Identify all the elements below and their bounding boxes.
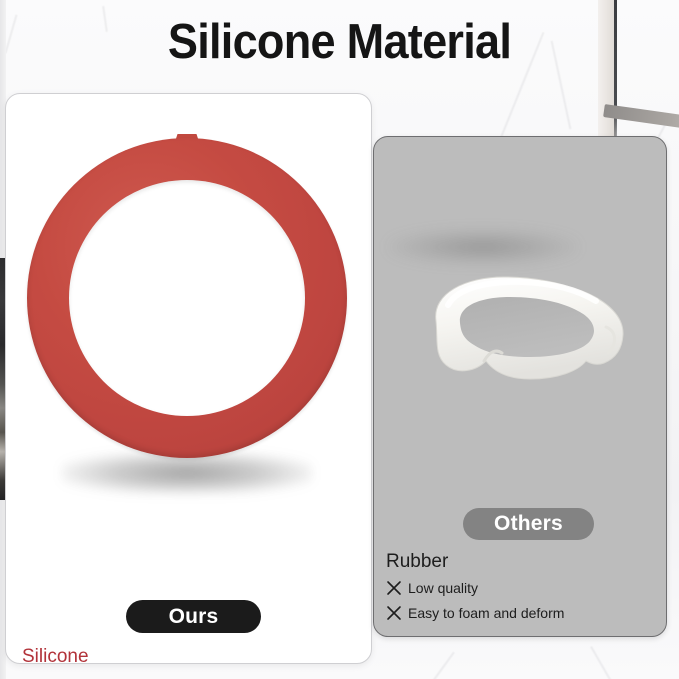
others-material-title: Rubber	[386, 550, 656, 574]
ours-material-title: Silicone	[22, 645, 352, 664]
others-feature-row: Easy to foam and deform	[386, 604, 656, 625]
others-feature-text: Easy to foam and deform	[408, 604, 564, 622]
others-feature-text: Low quality	[408, 579, 478, 597]
badge-ours: Ours	[126, 600, 261, 633]
marble-vein	[590, 646, 611, 679]
page-title: Silicone Material	[27, 14, 652, 70]
x-icon	[386, 605, 408, 625]
silicone-ring-image	[6, 94, 372, 514]
ring-drop-shadow	[62, 452, 312, 494]
ours-card: Ours Silicone Better resistant to chlori…	[5, 93, 372, 664]
rubber-gasket-image	[374, 137, 667, 537]
comparison-infographic: Silicone Material Ours Silicone Better r…	[0, 0, 679, 679]
marble-vein	[5, 15, 17, 54]
ring-body	[27, 138, 347, 458]
marble-vein	[427, 652, 454, 679]
others-feature-row: Low quality	[386, 579, 656, 600]
ours-feature-block: Silicone Better resistant to chlorine an…	[22, 645, 352, 664]
others-card: Others Rubber Low quality Easy to foam a…	[373, 136, 667, 637]
gasket-drop-shadow	[388, 229, 578, 265]
ring-inner-hole	[69, 180, 305, 416]
x-icon	[386, 580, 408, 600]
badge-others: Others	[463, 508, 594, 540]
others-feature-block: Rubber Low quality Easy to foam and defo…	[386, 550, 656, 629]
gasket-body	[418, 265, 636, 393]
